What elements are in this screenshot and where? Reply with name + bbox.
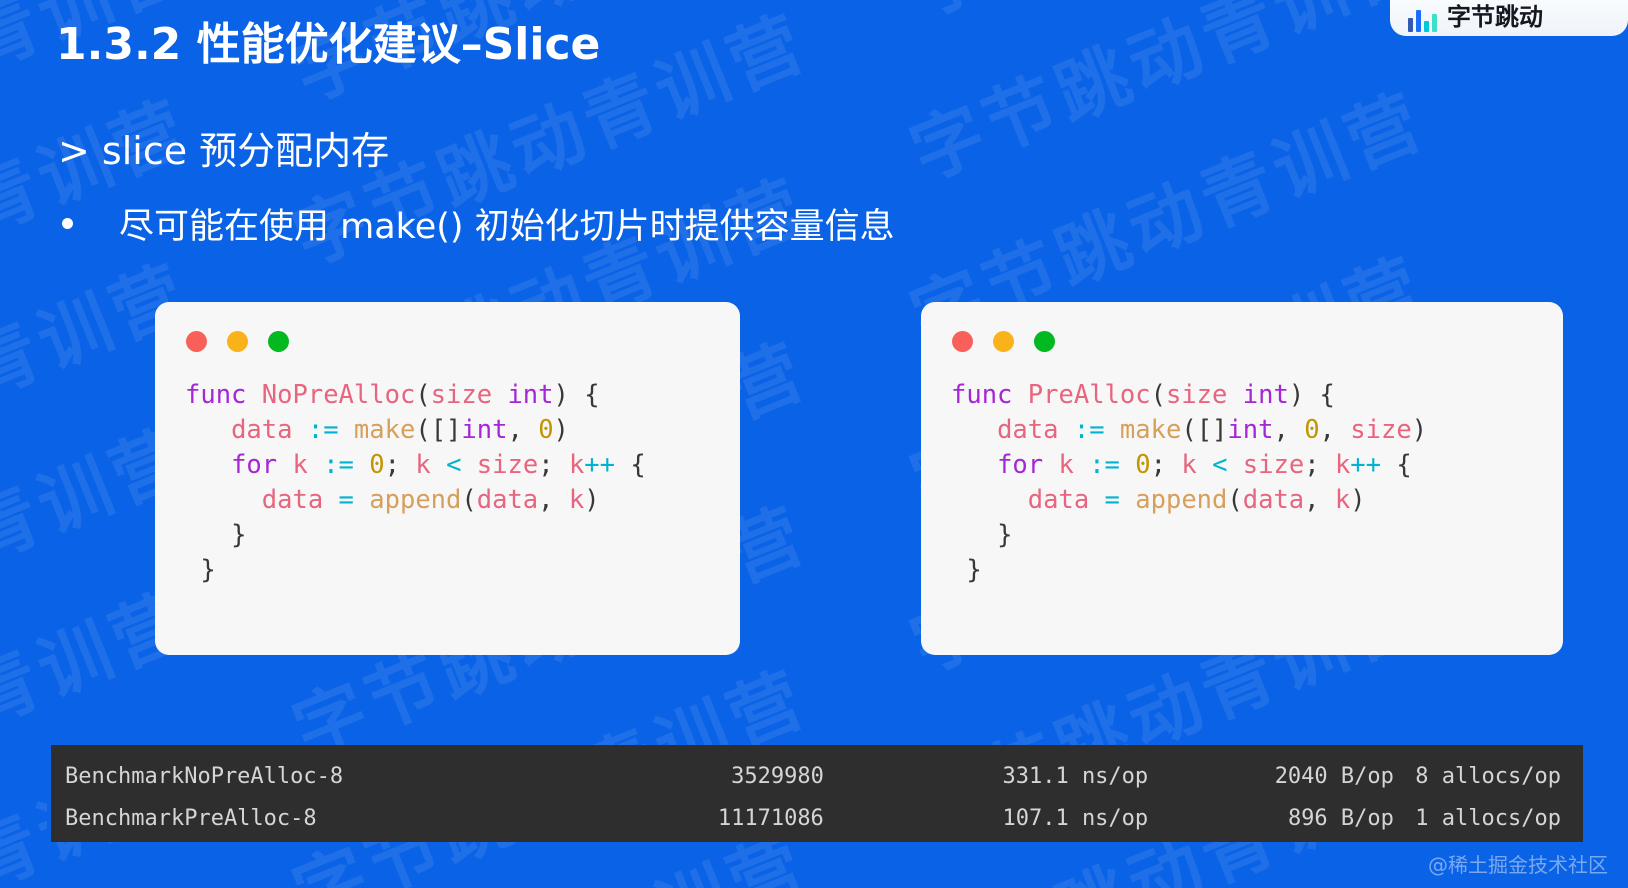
bullet-dot-icon [62, 218, 73, 229]
credit-watermark: @稀土掘金技术社区 [1428, 849, 1608, 878]
watermark-text: 字节跳动青训营 [899, 0, 1437, 196]
close-dot-icon[interactable] [186, 331, 207, 352]
brand-badge: 字节跳动 [1390, 0, 1628, 36]
section-subtitle: > slice 预分配内存 [58, 120, 389, 175]
terminal-accent-bar [47, 745, 51, 842]
code-block-no-prealloc: func NoPreAlloc(size int) { data := make… [155, 378, 740, 588]
maximize-dot-icon[interactable] [1034, 331, 1055, 352]
benchmark-nsop: 331.1 ns/op [824, 764, 1148, 789]
minimize-dot-icon[interactable] [993, 331, 1014, 352]
benchmark-name: BenchmarkNoPreAlloc-8 [57, 764, 529, 789]
benchmark-bop: 896 B/op [1148, 806, 1394, 831]
close-dot-icon[interactable] [952, 331, 973, 352]
code-card-no-prealloc: func NoPreAlloc(size int) { data := make… [155, 302, 740, 655]
brand-name: 字节跳动 [1447, 0, 1543, 32]
benchmark-name: BenchmarkPreAlloc-8 [57, 806, 529, 831]
window-controls [921, 302, 1563, 352]
page-title: 1.3.2 性能优化建议–Slice [56, 8, 600, 72]
code-block-prealloc: func PreAlloc(size int) { data := make([… [921, 378, 1563, 588]
bytedance-bars-icon [1408, 10, 1437, 32]
window-controls [155, 302, 740, 352]
table-row: BenchmarkPreAlloc-8 11171086 107.1 ns/op… [57, 797, 1561, 839]
benchmark-nsop: 107.1 ns/op [824, 806, 1148, 831]
watermark-text: 字节跳动青训营 [899, 0, 1437, 32]
benchmark-output-terminal: BenchmarkNoPreAlloc-8 3529980 331.1 ns/o… [47, 745, 1583, 842]
bullet-item: 尽可能在使用 make() 初始化切片时提供容量信息 [62, 198, 895, 249]
bullet-label: 尽可能在使用 make() 初始化切片时提供容量信息 [119, 198, 895, 249]
benchmark-allocs: 8 allocs/op [1394, 764, 1561, 789]
benchmark-iters: 3529980 [529, 764, 824, 789]
benchmark-allocs: 1 allocs/op [1394, 806, 1561, 831]
minimize-dot-icon[interactable] [227, 331, 248, 352]
benchmark-bop: 2040 B/op [1148, 764, 1394, 789]
table-row: BenchmarkNoPreAlloc-8 3529980 331.1 ns/o… [57, 755, 1561, 797]
maximize-dot-icon[interactable] [268, 331, 289, 352]
code-card-prealloc: func PreAlloc(size int) { data := make([… [921, 302, 1563, 655]
benchmark-iters: 11171086 [529, 806, 824, 831]
